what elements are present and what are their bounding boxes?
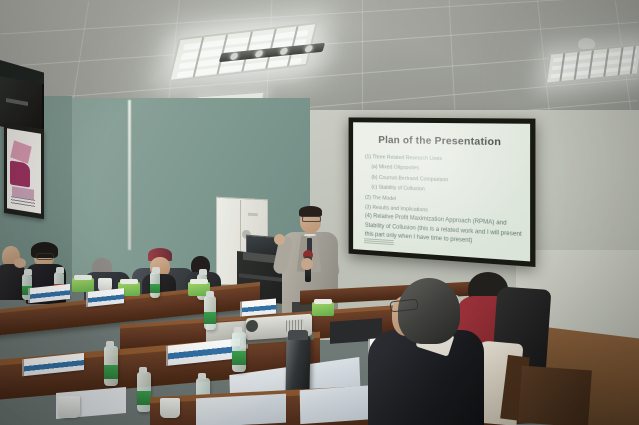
foreground-person-head bbox=[398, 278, 460, 344]
paper-cup bbox=[58, 396, 80, 418]
seminar-room-photo: Plan of the Presentation (1) Three Relat… bbox=[0, 0, 639, 425]
cabinet-vent bbox=[248, 213, 258, 217]
water-bottle bbox=[150, 272, 160, 298]
glasses-icon bbox=[36, 253, 54, 260]
wall-corner-trim bbox=[128, 100, 131, 250]
poster-shape-2 bbox=[10, 160, 30, 187]
projection-screen: Plan of the Presentation (1) Three Relat… bbox=[349, 117, 536, 267]
presenter-right-hand bbox=[301, 258, 313, 270]
glasses-icon bbox=[302, 216, 321, 222]
paper-cup bbox=[160, 398, 180, 418]
hand-at-face bbox=[14, 258, 26, 268]
water-bottle bbox=[232, 332, 246, 372]
presentation-slide: Plan of the Presentation (1) Three Relat… bbox=[353, 122, 530, 261]
thermos-cap bbox=[288, 330, 308, 340]
presenter-left-hand bbox=[274, 234, 285, 245]
water-bottle bbox=[104, 346, 118, 386]
tissue-box bbox=[312, 302, 334, 316]
water-bottle bbox=[204, 296, 216, 330]
water-bottle bbox=[137, 372, 151, 412]
ceiling-smoke-detector bbox=[578, 38, 595, 49]
name-tent-card bbox=[242, 299, 276, 317]
tissue-box bbox=[72, 278, 94, 292]
chair bbox=[518, 366, 592, 425]
thermos-flask bbox=[285, 336, 310, 394]
projection-glare bbox=[353, 122, 530, 261]
documents bbox=[196, 394, 286, 425]
